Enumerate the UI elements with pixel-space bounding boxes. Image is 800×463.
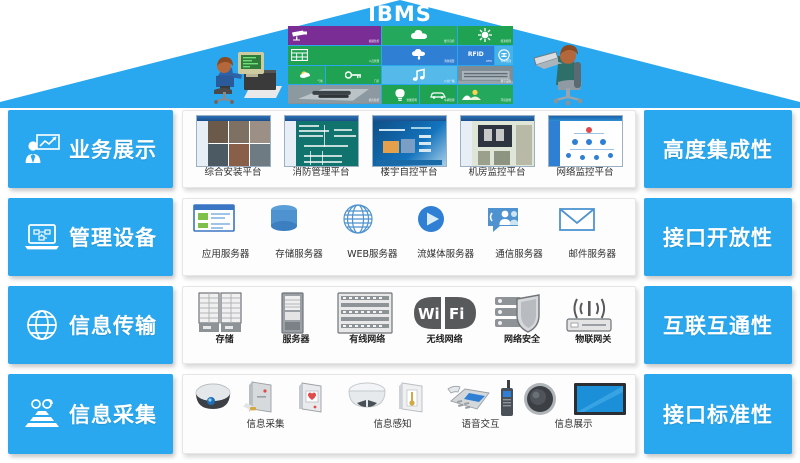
gateway-antenna-icon [562, 291, 624, 335]
item-caption: 无线网络 [427, 336, 463, 346]
lcd-display-icon [572, 379, 628, 419]
item-caption: 综合安装平台 [204, 168, 261, 178]
row-information-transmission: 信息传输 [0, 286, 800, 364]
data-center-tile[interactable]: 机房监控 [288, 85, 381, 104]
group-information-collection[interactable]: 信息采集 [191, 379, 341, 430]
panel-information-transmission: 存储 服务器 [182, 286, 636, 364]
window-app-server-icon [193, 203, 259, 249]
tile-label: 消防报警 [444, 61, 454, 64]
item-caption: WEB服务器 [347, 250, 397, 260]
sidebar-item-information-transmission[interactable]: 信息传输 [8, 286, 173, 364]
feature-standard-interface[interactable]: 接口标准性 [644, 374, 792, 454]
item-caption: 存储 [216, 336, 234, 346]
temperature-switch-icon [396, 379, 442, 419]
video-surveillance-tile[interactable]: 视频监控 [288, 26, 381, 45]
item-storage[interactable]: 存储 [194, 291, 256, 346]
ibms-title: IBMS [0, 2, 800, 26]
server-shield-icon [491, 291, 553, 335]
item-caption: 楼宇自控平台 [380, 168, 437, 178]
item-caption: 网络监控平台 [556, 168, 613, 178]
presenter-chart-icon [24, 133, 60, 165]
roof-tile-mosaic: 视频监控 楼宇自控 能源管理 人员管理 [288, 26, 513, 104]
group-caption: 信息感知 [373, 420, 411, 430]
grid-table-icon [291, 49, 308, 61]
key-icon [345, 71, 361, 79]
video-wall-screenshot [196, 115, 271, 167]
row-information-collection: 信息采集 [0, 374, 800, 454]
building-tile[interactable]: 楼宇设施 [458, 66, 514, 85]
server-photo-icon [288, 85, 381, 104]
car-icon [430, 91, 446, 99]
manual-call-point-icon [295, 379, 341, 419]
group-caption: 信息采集 [246, 420, 284, 430]
globe-grid-icon [24, 309, 60, 341]
sidebar-item-business-display[interactable]: 业务展示 [8, 110, 173, 188]
cloud-platform-tile[interactable]: 楼宇自控 [382, 26, 456, 45]
item-caption: 物联网关 [575, 336, 611, 346]
weather-tile[interactable]: 气象 [288, 66, 325, 85]
item-building-automation-platform[interactable]: 楼宇自控平台 [372, 115, 447, 178]
people-chat-icon [486, 203, 552, 249]
disk-array-icon [194, 291, 256, 335]
tile-label: RFID [486, 61, 492, 64]
panel-business-display: 综合安装平台 [182, 110, 636, 188]
feature-label: 高度集成性 [663, 134, 773, 164]
item-storage-server[interactable]: 存储服务器 [266, 203, 332, 260]
tile-label: 机房监控 [369, 100, 379, 103]
tile-label: 智能照明 [406, 100, 416, 103]
tile-label: 楼宇设施 [501, 81, 511, 84]
item-network-security[interactable]: 网络安全 [491, 291, 553, 346]
item-iot-gateway[interactable]: 物联网关 [562, 291, 624, 346]
tile-label: 门禁 [374, 81, 379, 84]
item-wireless-network[interactable]: WiFi 无线网络 [408, 291, 482, 346]
smoke-detector-icon [344, 379, 390, 419]
group-voice-interaction[interactable]: 语音交互 [445, 379, 517, 430]
landscape-tile[interactable]: 环境监测 [458, 85, 514, 104]
feature-label: 互联互通性 [663, 310, 773, 340]
person-with-laptop-icon [524, 42, 606, 106]
elevator-tile[interactable]: 智能照明 [382, 85, 419, 104]
rfid-tile[interactable]: RFID RFID [458, 46, 495, 65]
broadcast-tile[interactable]: 公共广播 [382, 66, 456, 85]
desk-phone-icon [445, 379, 491, 419]
group-caption: 信息展示 [554, 420, 592, 430]
svg-text:Fi: Fi [449, 305, 464, 323]
sensor-layers-icon [24, 398, 60, 430]
item-caption: 网络安全 [504, 336, 540, 346]
walkie-talkie-icon [497, 379, 517, 419]
tile-label: 车辆管理 [444, 100, 454, 103]
dome-camera-icon [191, 379, 237, 419]
item-caption: 服务器 [282, 336, 309, 346]
laptop-network-icon [24, 221, 60, 253]
fire-cad-screenshot [284, 115, 359, 167]
database-cylinder-icon [266, 203, 332, 249]
tile-label: 视频监控 [369, 41, 379, 44]
item-caption: 有线网络 [349, 336, 385, 346]
sidebar-label: 信息传输 [69, 310, 157, 340]
item-streaming-server[interactable]: 流媒体服务器 [413, 203, 479, 260]
landscape-icon [462, 89, 482, 101]
tile-label: 楼宇自控 [444, 41, 454, 44]
panel-management-devices: 应用服务器 存储服务器 [182, 198, 636, 276]
row-management-devices: 管理设备 应用服务器 [0, 198, 800, 276]
sidebar-label: 管理设备 [69, 222, 157, 252]
group-information-sensing[interactable]: 信息感知 [344, 379, 442, 430]
server-room-screenshot [460, 115, 535, 167]
panel-information-collection: 信息采集 [182, 374, 636, 454]
wifi-logo-icon: WiFi [408, 291, 482, 335]
person-at-desktop-computer-icon [200, 46, 286, 104]
car-park-tile[interactable]: 车辆管理 [420, 85, 457, 104]
feature-label: 接口标准性 [663, 399, 773, 429]
item-server[interactable]: 服务器 [265, 291, 327, 346]
sidebar-label: 业务展示 [69, 134, 157, 164]
parking-tile[interactable]: 停车管理 [495, 46, 513, 65]
row-business-display: 业务展示 综合安装平台 [0, 110, 800, 188]
item-wired-network[interactable]: 有线网络 [336, 291, 398, 346]
sidebar-item-management-devices[interactable]: 管理设备 [8, 198, 173, 276]
item-fire-management-platform[interactable]: 消防管理平台 [284, 115, 359, 178]
energy-management-tile[interactable]: 能源管理 [458, 26, 514, 45]
ibms-architecture-diagram: IBMS [0, 0, 800, 463]
item-caption: 存储服务器 [275, 250, 323, 260]
network-topology-screenshot [548, 115, 623, 167]
item-caption: 通信服务器 [495, 250, 543, 260]
tile-label: 人员管理 [369, 61, 379, 64]
feature-interconnection[interactable]: 互联互通性 [644, 286, 792, 364]
lighting-tile[interactable]: 门禁 [326, 66, 382, 85]
tile-label: 停车管理 [501, 61, 511, 64]
bulb-icon [395, 89, 405, 101]
group-caption: 语音交互 [461, 420, 499, 430]
feature-high-integration[interactable]: 高度集成性 [644, 110, 792, 188]
item-caption: 流媒体服务器 [417, 250, 474, 260]
group-information-display[interactable]: 信息展示 [520, 379, 628, 430]
item-web-server[interactable]: WEB服务器 [339, 203, 405, 260]
access-control-tile[interactable]: 人员管理 [288, 46, 381, 65]
tower-server-icon [265, 291, 327, 335]
item-communication-server[interactable]: 通信服务器 [486, 203, 552, 260]
item-application-server[interactable]: 应用服务器 [193, 203, 259, 260]
weather-icon [300, 70, 312, 80]
sidebar-label: 信息采集 [69, 399, 157, 429]
speaker-icon [520, 379, 566, 419]
envelope-icon [559, 203, 625, 249]
item-mail-server[interactable]: 邮件服务器 [559, 203, 625, 260]
feature-label: 接口开放性 [663, 222, 773, 252]
patch-panel-icon [336, 291, 398, 335]
cctv-camera-icon [291, 30, 308, 41]
tile-label: 能源管理 [501, 41, 511, 44]
music-note-icon [412, 68, 426, 81]
tile-label: 公共广播 [444, 81, 454, 84]
card-reader-icon [243, 379, 289, 419]
globe-wireframe-icon [339, 203, 405, 249]
sidebar-item-information-collection[interactable]: 信息采集 [8, 374, 173, 454]
cloud-icon [411, 30, 427, 40]
roof-section: IBMS [0, 0, 800, 108]
tile-label: 环境监测 [501, 100, 511, 103]
tile-label: 气象 [317, 81, 322, 84]
cloud-drop-icon [412, 49, 426, 61]
item-network-monitor-platform[interactable]: 网络监控平台 [548, 115, 623, 178]
item-caption: 消防管理平台 [292, 168, 349, 178]
gear-sun-icon [478, 28, 492, 42]
item-data-room-monitor-platform[interactable]: 机房监控平台 [460, 115, 535, 178]
svg-text:Wi: Wi [418, 305, 440, 323]
item-caption: 邮件服务器 [569, 250, 617, 260]
bas-hmi-screenshot [372, 115, 447, 167]
fire-alarm-tile[interactable]: 消防报警 [382, 46, 456, 65]
rfid-icon: RFID [468, 52, 484, 58]
play-circle-icon [413, 203, 479, 249]
item-integrated-security-platform[interactable]: 综合安装平台 [196, 115, 271, 178]
item-caption: 机房监控平台 [468, 168, 525, 178]
item-caption: 应用服务器 [202, 250, 250, 260]
feature-open-interface[interactable]: 接口开放性 [644, 198, 792, 276]
